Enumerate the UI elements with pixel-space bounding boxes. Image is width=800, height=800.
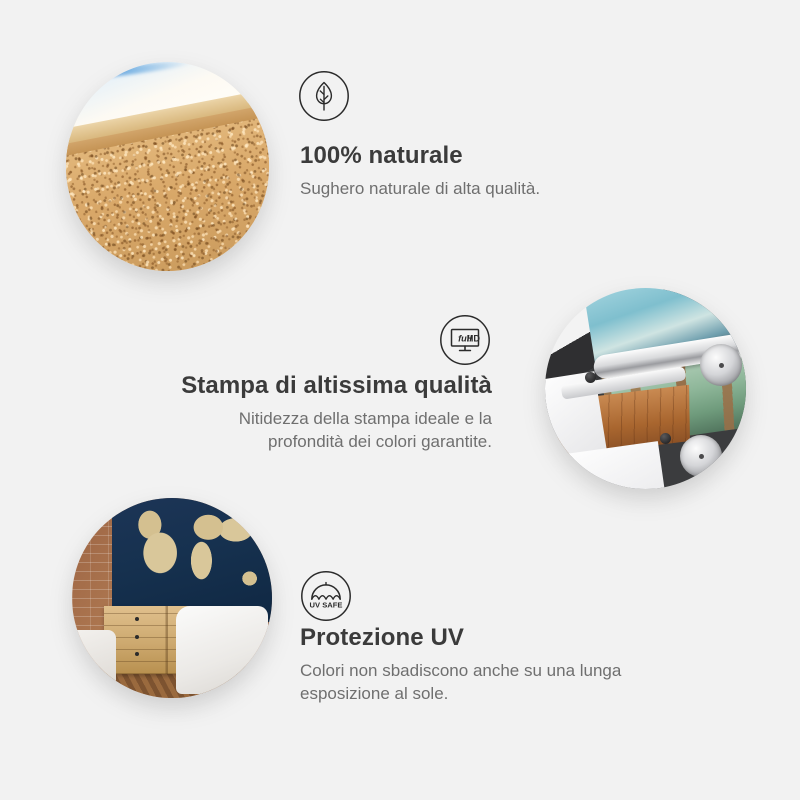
fullhd-label-hd: HD — [467, 333, 481, 343]
room-photo-layers — [72, 498, 272, 698]
printer-roller-end — [680, 435, 722, 477]
cork-texture-photo — [66, 62, 269, 271]
leaf-icon — [298, 70, 350, 122]
armchair-right — [176, 606, 268, 694]
feature-print-heading: Stampa di altissima qualità — [160, 372, 492, 401]
uv-safe-umbrella-icon: UV SAFE — [300, 570, 352, 622]
world-map-mural — [112, 498, 272, 622]
cork-photo-layers — [66, 62, 269, 271]
printer-roller-end — [700, 344, 742, 386]
uv-safe-label: UV SAFE — [310, 601, 343, 610]
dresser-knob — [135, 652, 139, 656]
feature-highlights-page: 100% naturale Sughero naturale di alta q… — [0, 0, 800, 800]
feature-natural-subtext: Sughero naturale di alta qualità. — [300, 177, 700, 200]
feature-natural-text: 100% naturale Sughero naturale di alta q… — [300, 142, 700, 200]
dresser-knob — [135, 617, 139, 621]
feature-uv-subtext: Colori non sbadiscono anche su una lunga… — [300, 659, 660, 706]
printer-photo-layers — [545, 288, 746, 489]
feature-print-subtext: Nitidezza della stampa ideale e la profo… — [160, 407, 492, 454]
room-world-map-mural-photo — [72, 498, 272, 698]
feature-uv-text: Protezione UV Colori non sbadiscono anch… — [300, 624, 700, 706]
printer-knob — [660, 433, 671, 444]
large-format-printer-photo — [545, 288, 746, 489]
feature-uv-heading: Protezione UV — [300, 624, 700, 653]
fullhd-monitor-icon: full HD — [439, 314, 491, 366]
feature-natural-heading: 100% naturale — [300, 142, 700, 171]
armchair-left — [72, 630, 116, 690]
dresser-knob — [135, 635, 139, 639]
feature-print-text: Stampa di altissima qualità Nitidezza de… — [160, 372, 492, 454]
